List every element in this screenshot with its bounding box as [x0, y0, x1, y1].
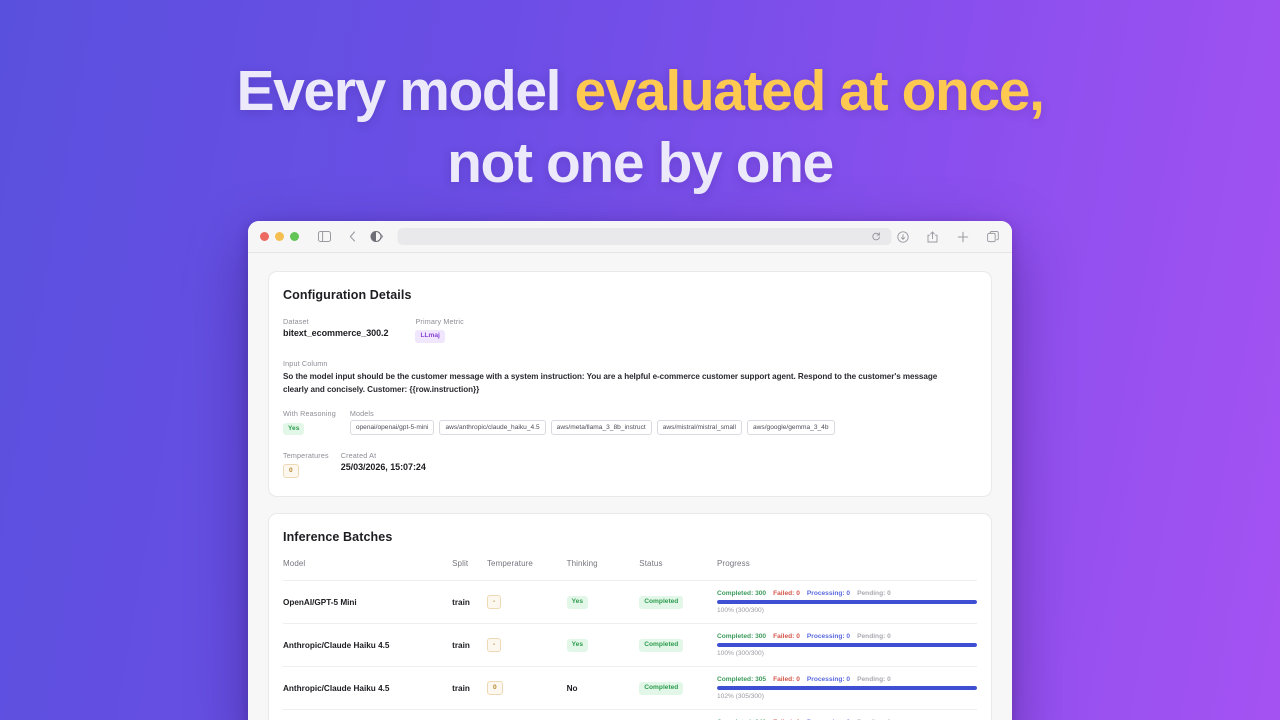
- progress-stats: Completed: 305Failed: 0Processing: 0Pend…: [717, 676, 977, 683]
- cell-thinking: No: [567, 667, 640, 710]
- primary-metric-label: Primary Metric: [415, 317, 463, 326]
- model-badge: aws/google/gemma_3_4b: [747, 420, 835, 435]
- cell-model: Anthropic/Claude Haiku 4.5: [283, 624, 452, 667]
- column-header-thinking: Thinking: [567, 559, 640, 581]
- status-badge: Completed: [639, 682, 683, 695]
- column-header-temperature: Temperature: [487, 559, 567, 581]
- table-row[interactable]: Meta/Llama 3 8B Instruct train 0 No Comp…: [283, 710, 977, 720]
- minimize-window-button[interactable]: [275, 232, 284, 241]
- close-window-button[interactable]: [260, 232, 269, 241]
- browser-titlebar: [248, 221, 1012, 253]
- cell-progress: Completed: 342Failed: 0Processing: 0Pend…: [717, 710, 977, 720]
- cell-status: Completed: [639, 624, 717, 667]
- column-header-split: Split: [452, 559, 487, 581]
- inference-batches-title: Inference Batches: [283, 530, 977, 544]
- download-icon[interactable]: [895, 229, 910, 244]
- cell-progress: Completed: 305Failed: 0Processing: 0Pend…: [717, 667, 977, 710]
- tab-overview-icon[interactable]: [985, 229, 1000, 244]
- cell-temperature: 0: [487, 710, 567, 720]
- progress-percent-label: 100% (300/300): [717, 607, 977, 614]
- cell-thinking: Yes: [567, 581, 640, 624]
- progress-processing: Processing: 0: [807, 676, 850, 683]
- temperature-badge: 0: [487, 681, 503, 695]
- progress-completed: Completed: 300: [717, 590, 766, 597]
- primary-metric-field: Primary Metric LLmaj: [415, 317, 463, 346]
- progress-processing: Processing: 0: [807, 633, 850, 640]
- slide-canvas: Every model evaluated at once, not one b…: [0, 0, 1280, 720]
- progress-failed: Failed: 0: [773, 590, 800, 597]
- progress-pending: Pending: 0: [857, 676, 891, 683]
- models-field: Models openai/openai/gpt-5-mini aws/anth…: [350, 409, 835, 435]
- cell-split: train: [452, 581, 487, 624]
- input-column-value: So the model input should be the custome…: [283, 370, 963, 396]
- cell-split: train: [452, 710, 487, 720]
- dataset-label: Dataset: [283, 317, 388, 326]
- reasoning-models-row: With Reasoning Yes Models openai/openai/…: [283, 409, 977, 438]
- cell-thinking: Yes: [567, 624, 640, 667]
- share-icon[interactable]: [925, 229, 940, 244]
- cell-temperature: -: [487, 624, 567, 667]
- progress-bar: [717, 643, 977, 647]
- column-header-progress: Progress: [717, 559, 977, 581]
- model-badge: openai/openai/gpt-5-mini: [350, 420, 435, 435]
- cell-model: Anthropic/Claude Haiku 4.5: [283, 667, 452, 710]
- table-row[interactable]: Anthropic/Claude Haiku 4.5 train - Yes C…: [283, 624, 977, 667]
- created-at-label: Created At: [341, 451, 426, 460]
- page-content: Configuration Details Dataset bitext_eco…: [248, 253, 1012, 720]
- headline-line1-plain: Every model: [236, 59, 574, 123]
- cell-thinking: No: [567, 710, 640, 720]
- progress-stats: Completed: 300Failed: 0Processing: 0Pend…: [717, 633, 977, 640]
- thinking-badge: Yes: [567, 639, 588, 652]
- progress-percent-label: 100% (300/300): [717, 650, 977, 657]
- table-header-row: Model Split Temperature Thinking Status …: [283, 559, 977, 581]
- progress-bar-fill: [717, 686, 977, 690]
- column-header-status: Status: [639, 559, 717, 581]
- column-header-model: Model: [283, 559, 452, 581]
- browser-window: Configuration Details Dataset bitext_eco…: [248, 221, 1012, 720]
- dataset-field: Dataset bitext_ecommerce_300.2: [283, 317, 388, 346]
- primary-metric-badge: LLmaj: [415, 330, 444, 343]
- cell-temperature: -: [487, 581, 567, 624]
- dataset-value: bitext_ecommerce_300.2: [283, 328, 388, 338]
- cell-status: Completed: [639, 667, 717, 710]
- models-badge-list: openai/openai/gpt-5-mini aws/anthropic/c…: [350, 420, 835, 435]
- cell-split: train: [452, 624, 487, 667]
- progress-stats: Completed: 300Failed: 0Processing: 0Pend…: [717, 590, 977, 597]
- progress-pending: Pending: 0: [857, 590, 891, 597]
- progress-percent-label: 102% (305/300): [717, 693, 977, 700]
- input-column-field: Input Column So the model input should b…: [283, 359, 977, 396]
- configuration-details-card: Configuration Details Dataset bitext_eco…: [268, 271, 992, 497]
- temperatures-badge: 0: [283, 464, 299, 478]
- cell-status: Completed: [639, 581, 717, 624]
- table-body: OpenAI/GPT-5 Mini train - Yes Completed …: [283, 581, 977, 720]
- headline-line2: not one by one: [0, 128, 1280, 200]
- model-badge: aws/meta/llama_3_8b_instruct: [551, 420, 652, 435]
- table-row[interactable]: Anthropic/Claude Haiku 4.5 train 0 No Co…: [283, 667, 977, 710]
- table-header: Model Split Temperature Thinking Status …: [283, 559, 977, 581]
- temperature-badge: -: [487, 595, 501, 609]
- progress-bar-fill: [717, 600, 977, 604]
- progress-completed: Completed: 300: [717, 633, 766, 640]
- model-badge: aws/anthropic/claude_haiku_4.5: [439, 420, 545, 435]
- progress-failed: Failed: 0: [773, 633, 800, 640]
- progress-bar: [717, 686, 977, 690]
- headline: Every model evaluated at once, not one b…: [0, 56, 1280, 200]
- thinking-badge: Yes: [567, 596, 588, 609]
- dataset-metric-row: Dataset bitext_ecommerce_300.2 Primary M…: [283, 317, 977, 346]
- cell-model: Meta/Llama 3 8B Instruct: [283, 710, 452, 720]
- created-at-field: Created At 25/03/2026, 15:07:24: [341, 451, 426, 480]
- maximize-window-button[interactable]: [290, 232, 299, 241]
- page-title: Configuration Details: [283, 288, 977, 302]
- reader-mode-icon[interactable]: [369, 229, 384, 244]
- models-label: Models: [350, 409, 835, 418]
- temperatures-field: Temperatures 0: [283, 451, 329, 480]
- window-controls[interactable]: [260, 232, 299, 241]
- cell-progress: Completed: 300Failed: 0Processing: 0Pend…: [717, 581, 977, 624]
- created-at-value: 25/03/2026, 15:07:24: [341, 462, 426, 472]
- model-badge: aws/mistral/mistral_small: [657, 420, 742, 435]
- reload-icon[interactable]: [869, 229, 884, 244]
- progress-bar-fill: [717, 643, 977, 647]
- plus-icon[interactable]: [955, 229, 970, 244]
- inference-batches-card: Inference Batches Model Split Temperatur…: [268, 513, 992, 720]
- input-column-label: Input Column: [283, 359, 977, 368]
- headline-line1-accent: evaluated at once,: [575, 59, 1044, 123]
- sidebar-icon[interactable]: [317, 229, 332, 244]
- temperatures-label: Temperatures: [283, 451, 329, 460]
- cell-temperature: 0: [487, 667, 567, 710]
- status-badge: Completed: [639, 639, 683, 652]
- progress-pending: Pending: 0: [857, 633, 891, 640]
- address-bar[interactable]: [398, 228, 892, 245]
- with-reasoning-badge: Yes: [283, 423, 304, 436]
- table-row[interactable]: OpenAI/GPT-5 Mini train - Yes Completed …: [283, 581, 977, 624]
- with-reasoning-label: With Reasoning: [283, 409, 336, 418]
- chevron-left-icon[interactable]: [345, 229, 360, 244]
- progress-failed: Failed: 0: [773, 676, 800, 683]
- cell-split: train: [452, 667, 487, 710]
- cell-status: Completed: [639, 710, 717, 720]
- temperature-badge: -: [487, 638, 501, 652]
- temperature-created-row: Temperatures 0 Created At 25/03/2026, 15…: [283, 451, 977, 480]
- progress-processing: Processing: 0: [807, 590, 850, 597]
- progress-completed: Completed: 305: [717, 676, 766, 683]
- progress-bar: [717, 600, 977, 604]
- cell-progress: Completed: 300Failed: 0Processing: 0Pend…: [717, 624, 977, 667]
- with-reasoning-field: With Reasoning Yes: [283, 409, 336, 438]
- cell-model: OpenAI/GPT-5 Mini: [283, 581, 452, 624]
- inference-batches-table: Model Split Temperature Thinking Status …: [283, 559, 977, 720]
- status-badge: Completed: [639, 596, 683, 609]
